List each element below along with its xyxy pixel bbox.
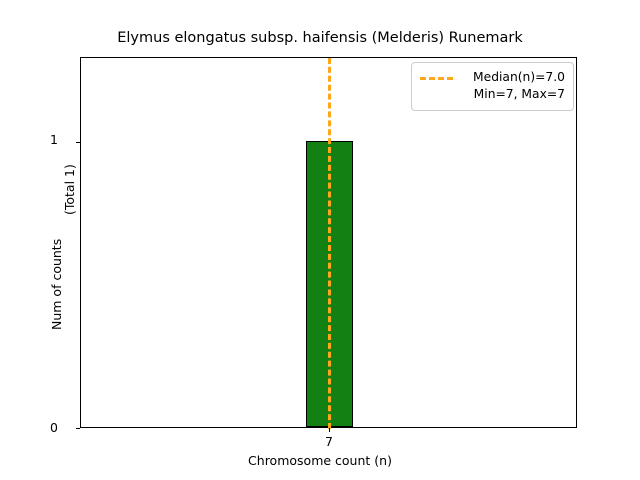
xtick-label-7: 7 <box>299 434 359 449</box>
legend-label-median: Median(n)=7.0 <box>462 69 565 86</box>
chart-figure: Elymus elongatus subsp. haifensis (Melde… <box>0 0 640 480</box>
x-axis-label: Chromosome count (n) <box>0 453 640 468</box>
plot-area <box>80 57 577 428</box>
ytick-label-1: 1 <box>50 134 58 146</box>
chart-title: Elymus elongatus subsp. haifensis (Melde… <box>0 30 640 46</box>
ytick-mark-0 <box>76 428 80 429</box>
chart-legend: Median(n)=7.0 Min=7, Max=7 <box>411 62 574 111</box>
xtick-mark-7 <box>329 428 330 432</box>
legend-dashed-line-icon <box>420 77 453 80</box>
median-line <box>328 58 331 429</box>
legend-label-minmax: Min=7, Max=7 <box>462 86 565 103</box>
y-axis-label: Num of counts <box>49 239 64 330</box>
ytick-label-0: 0 <box>50 422 58 434</box>
ytick-mark-1 <box>76 142 80 143</box>
y-axis-label-total: (Total 1) <box>62 164 77 215</box>
legend-label-group: Median(n)=7.0 Min=7, Max=7 <box>462 69 565 103</box>
